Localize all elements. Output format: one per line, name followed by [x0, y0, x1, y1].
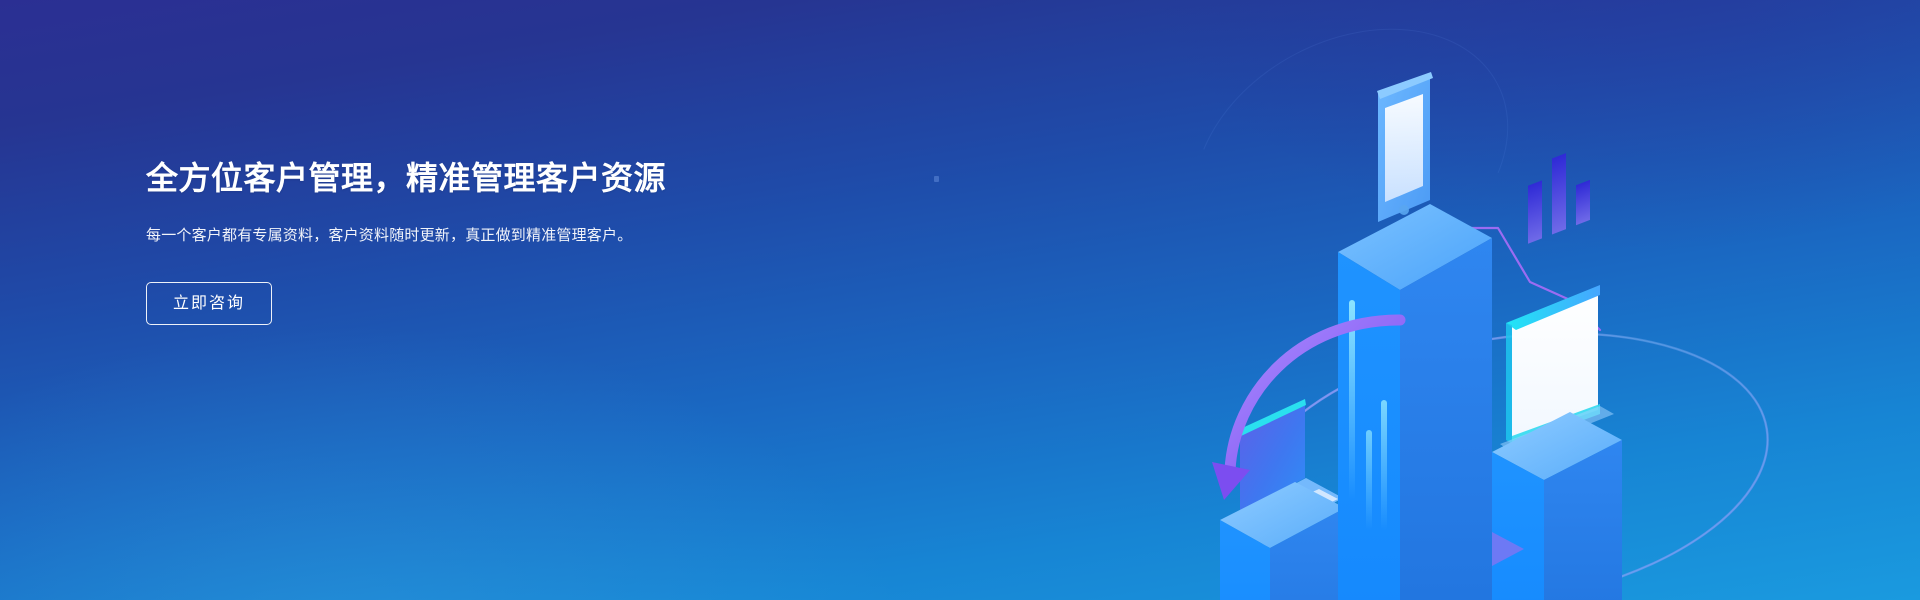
hero-subtitle: 每一个客户都有专属资料，客户资料随时更新，真正做到精准管理客户。 — [146, 224, 726, 248]
hero-copy-block: 全方位客户管理，精准管理客户资源 每一个客户都有专属资料，客户资料随时更新，真正… — [146, 158, 766, 325]
consult-now-button[interactable]: 立即咨询 — [146, 282, 272, 325]
hero-banner: 全方位客户管理，精准管理客户资源 每一个客户都有专属资料，客户资料随时更新，真正… — [0, 0, 1920, 600]
pillar-right — [1492, 153, 1622, 600]
pillar-center — [1338, 72, 1492, 600]
background-speck-decoration — [934, 176, 939, 182]
monitor-bar-chart — [1528, 153, 1590, 244]
monitor-device — [1500, 153, 1614, 454]
page-title: 全方位客户管理，精准管理客户资源 — [146, 158, 766, 198]
tablet-device — [1377, 72, 1433, 222]
hero-illustration — [1100, 0, 1920, 600]
